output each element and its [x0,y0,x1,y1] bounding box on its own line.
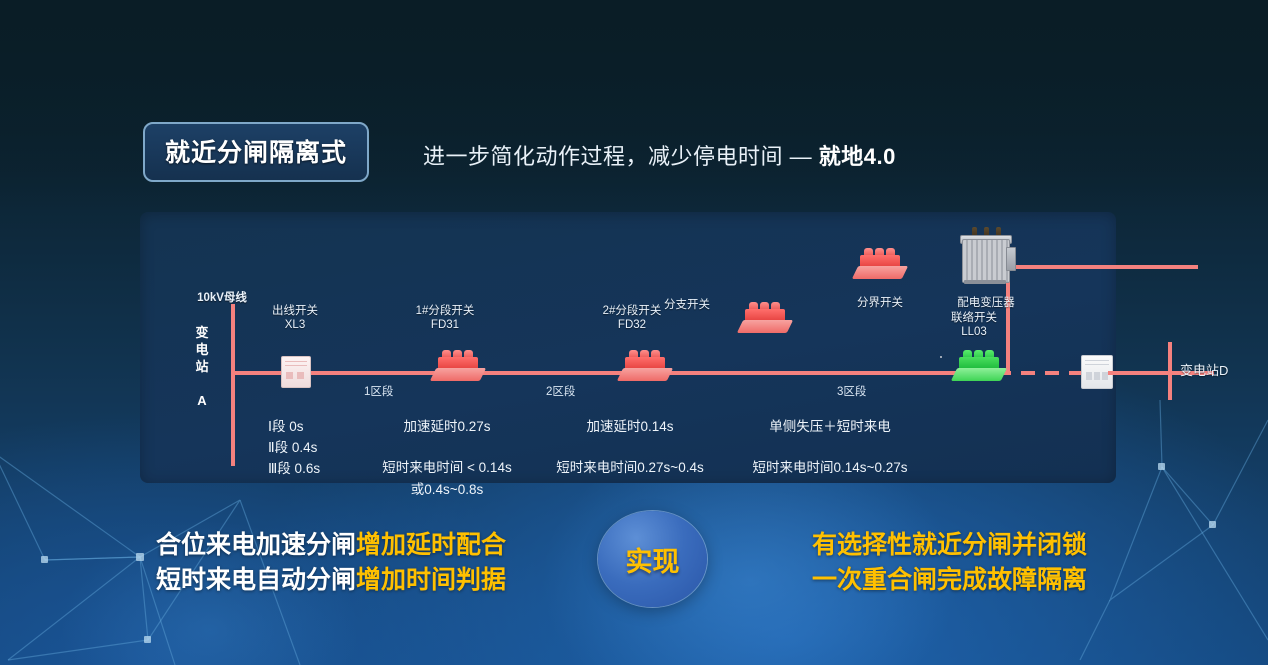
bottom-left-line1-highlight: 增加延时配合 [356,531,506,559]
note-1-bottom: 短时来电时间 < 0.14s 或0.4s~0.8s [382,457,511,501]
device-fd32-code: FD32 [618,319,646,331]
slide-root: 就近分闸隔离式 进一步简化动作过程，减少停电时间 — 就地4.0 10kV母线 … [0,0,1268,665]
device-ll03-code: LL03 [961,326,987,338]
note-1-bottom-line1: 短时来电时间 < 0.14s [382,460,511,475]
bottom-left-line2-plain: 短时来电自动分闸 [156,566,356,594]
section-label-2: 2区段 [546,383,575,399]
device-ll03-label: 联络开关 LL03 [951,311,997,339]
section-label-1: 1区段 [364,383,393,399]
bottom-left-line2-highlight: 增加时间判据 [356,566,506,594]
realize-circle: 实现 [598,511,707,607]
substation-d-label: 变电站D [1180,364,1228,378]
bus-label: 10kV母线 [197,291,247,305]
device-fd31-switch[interactable] [431,350,485,384]
substation-d-bus [1168,342,1172,400]
stage-2: Ⅱ段 0.4s [268,440,317,455]
device-xl3-label: 出线开关 XL3 [272,304,318,332]
device-fd31-name: 1#分段开关 [416,305,475,317]
diagram-panel: 10kV母线 变电站A 出线开关 XL3 [140,212,1116,483]
device-fd31-code: FD31 [431,319,459,331]
device-ll03-switch[interactable] [952,350,1006,384]
substation-a-bus [231,304,235,466]
note-2-top: 加速延时0.14s [586,416,673,438]
note-3-top: 单侧失压＋短时来电 [769,416,891,438]
device-branch-switch[interactable] [738,302,792,336]
note-3-bottom: 短时来电时间0.14s~0.27s [753,457,908,479]
device-fd31-label: 1#分段开关 FD31 [416,304,475,332]
note-2-bottom: 短时来电时间0.27s~0.4s [556,457,703,479]
bottom-right-line1: 有选择性就近分闸并闭锁 [812,531,1087,559]
branch-horizontal [1006,265,1198,269]
stage-3: Ⅲ段 0.6s [268,461,320,476]
note-1-bottom-line2: 或0.4s~0.8s [411,482,483,497]
device-boundary-label: 分界开关 [857,296,903,310]
substation-a-label: 变电站A [192,324,212,409]
section-label-3: 3区段 [837,383,866,399]
device-xl3-cabinet[interactable] [281,356,311,388]
protection-stages: Ⅰ段 0s Ⅱ段 0.4s Ⅲ段 0.6s [268,416,320,479]
device-xl3-code: XL3 [285,319,305,331]
header-subtitle-plain: 进一步简化动作过程，减少停电时间 — [423,144,819,169]
device-branch-label: 分支开关 [664,298,710,312]
device-boundary-switch[interactable] [853,248,907,282]
header-subtitle-bold: 就地4.0 [819,144,896,169]
device-xl3-name: 出线开关 [272,305,318,317]
realize-circle-label: 实现 [626,540,680,579]
device-ll03-name: 联络开关 [951,312,997,324]
note-1-top: 加速延时0.27s [403,416,490,438]
device-transformer-label: 配电变压器 [957,296,1015,310]
bottom-left-line1-plain: 合位来电加速分闸 [156,531,356,559]
header-chip: 就近分闸隔离式 [143,122,369,182]
bottom-right-line2: 一次重合闸完成故障隔离 [812,566,1087,594]
cabinet-to-d-line [1108,371,1170,375]
bottom-right-text: 有选择性就近分闸并闭锁 一次重合闸完成故障隔离 [812,528,1087,598]
spacer-cab [940,356,942,358]
bottom-left-text: 合位来电加速分闸增加延时配合 短时来电自动分闸增加时间判据 [156,528,506,598]
header: 就近分闸隔离式 进一步简化动作过程，减少停电时间 — 就地4.0 [143,122,369,182]
device-fd32-switch[interactable] [618,350,672,384]
device-fd32-name: 2#分段开关 [603,305,662,317]
header-subtitle: 进一步简化动作过程，减少停电时间 — 就地4.0 [423,139,896,171]
stage-1: Ⅰ段 0s [268,419,304,434]
tie-dashed-line [997,371,1092,375]
device-fd32-label: 2#分段开关 FD32 [603,304,662,332]
device-transformer[interactable] [958,227,1014,285]
